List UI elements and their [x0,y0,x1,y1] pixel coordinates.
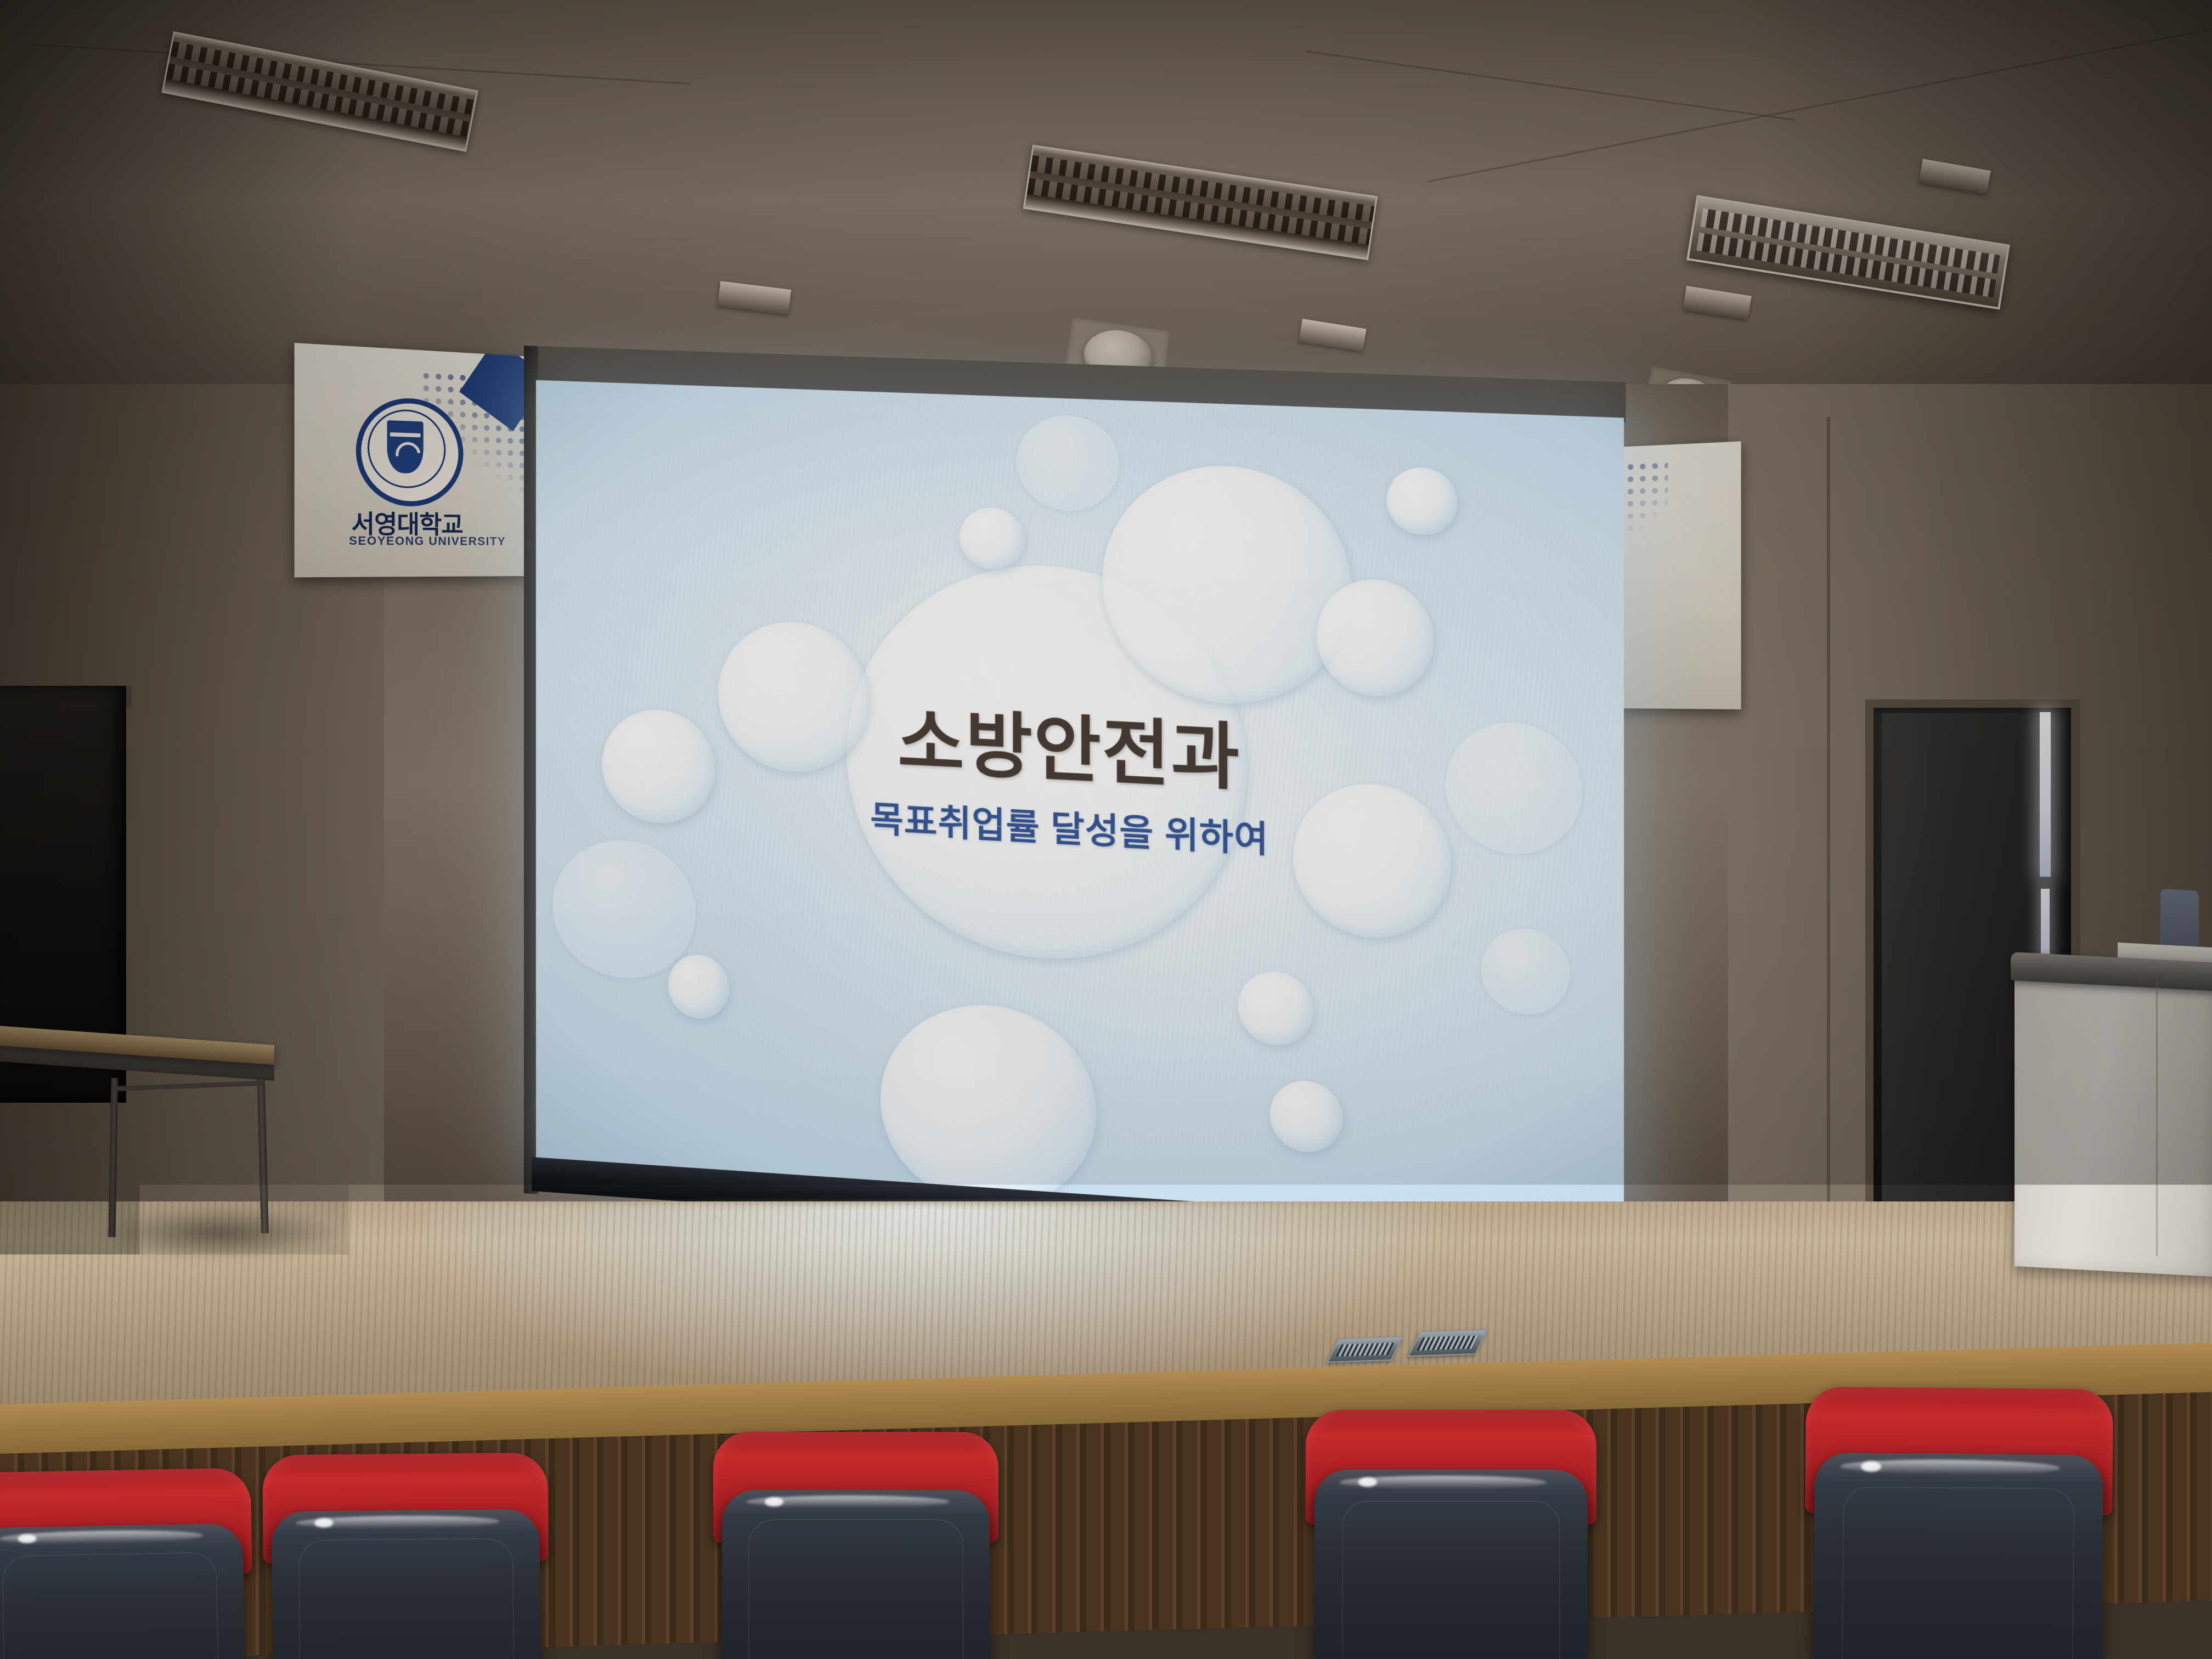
seat-shell [0,1523,246,1659]
auditorium-seat[interactable] [0,1468,255,1659]
seat-shell [722,1490,990,1659]
lectern-panel-seam [2156,982,2158,1256]
auditorium-photo: 서영대학교 SEOYEONG UNIVERSITY [0,0,2212,1659]
auditorium-seat[interactable] [262,1453,550,1659]
table-shadow [77,1207,362,1273]
seat-highlight-dot [765,1497,783,1506]
seat-highlight-dot [18,1534,36,1543]
seat-contour [1342,1500,1561,1659]
seat-highlight-dot [314,1518,333,1527]
seat-contour [298,1538,515,1659]
seat-shell [272,1509,541,1659]
seat-contour [748,1519,963,1659]
auditorium-seat[interactable] [1804,1387,2113,1659]
slide-surface: 소방안전과 목표취업률 달성을 위하여 [536,380,1624,1233]
seat-contour [1842,1486,2074,1659]
seat-contour [2,1551,219,1659]
door-light-gap [2040,712,2051,877]
floor-outlet-plate[interactable] [1327,1336,1403,1363]
seat-shell [1314,1470,1588,1659]
auditorium-seat[interactable] [1306,1410,1596,1659]
lectern[interactable] [2015,975,2212,1277]
seat-shell [1813,1453,2104,1659]
banner-name-english: SEOYEONG UNIVERSITY [349,534,506,549]
projection-screen[interactable]: 소방안전과 목표취업률 달성을 위하여 [524,346,1629,1301]
university-banner-left: 서영대학교 SEOYEONG UNIVERSITY [295,343,531,577]
door-light-gap [2041,889,2050,960]
floor-outlet-plate[interactable] [1408,1329,1488,1357]
wall-corner [1827,417,1830,1240]
auditorium-seat[interactable] [713,1432,998,1659]
